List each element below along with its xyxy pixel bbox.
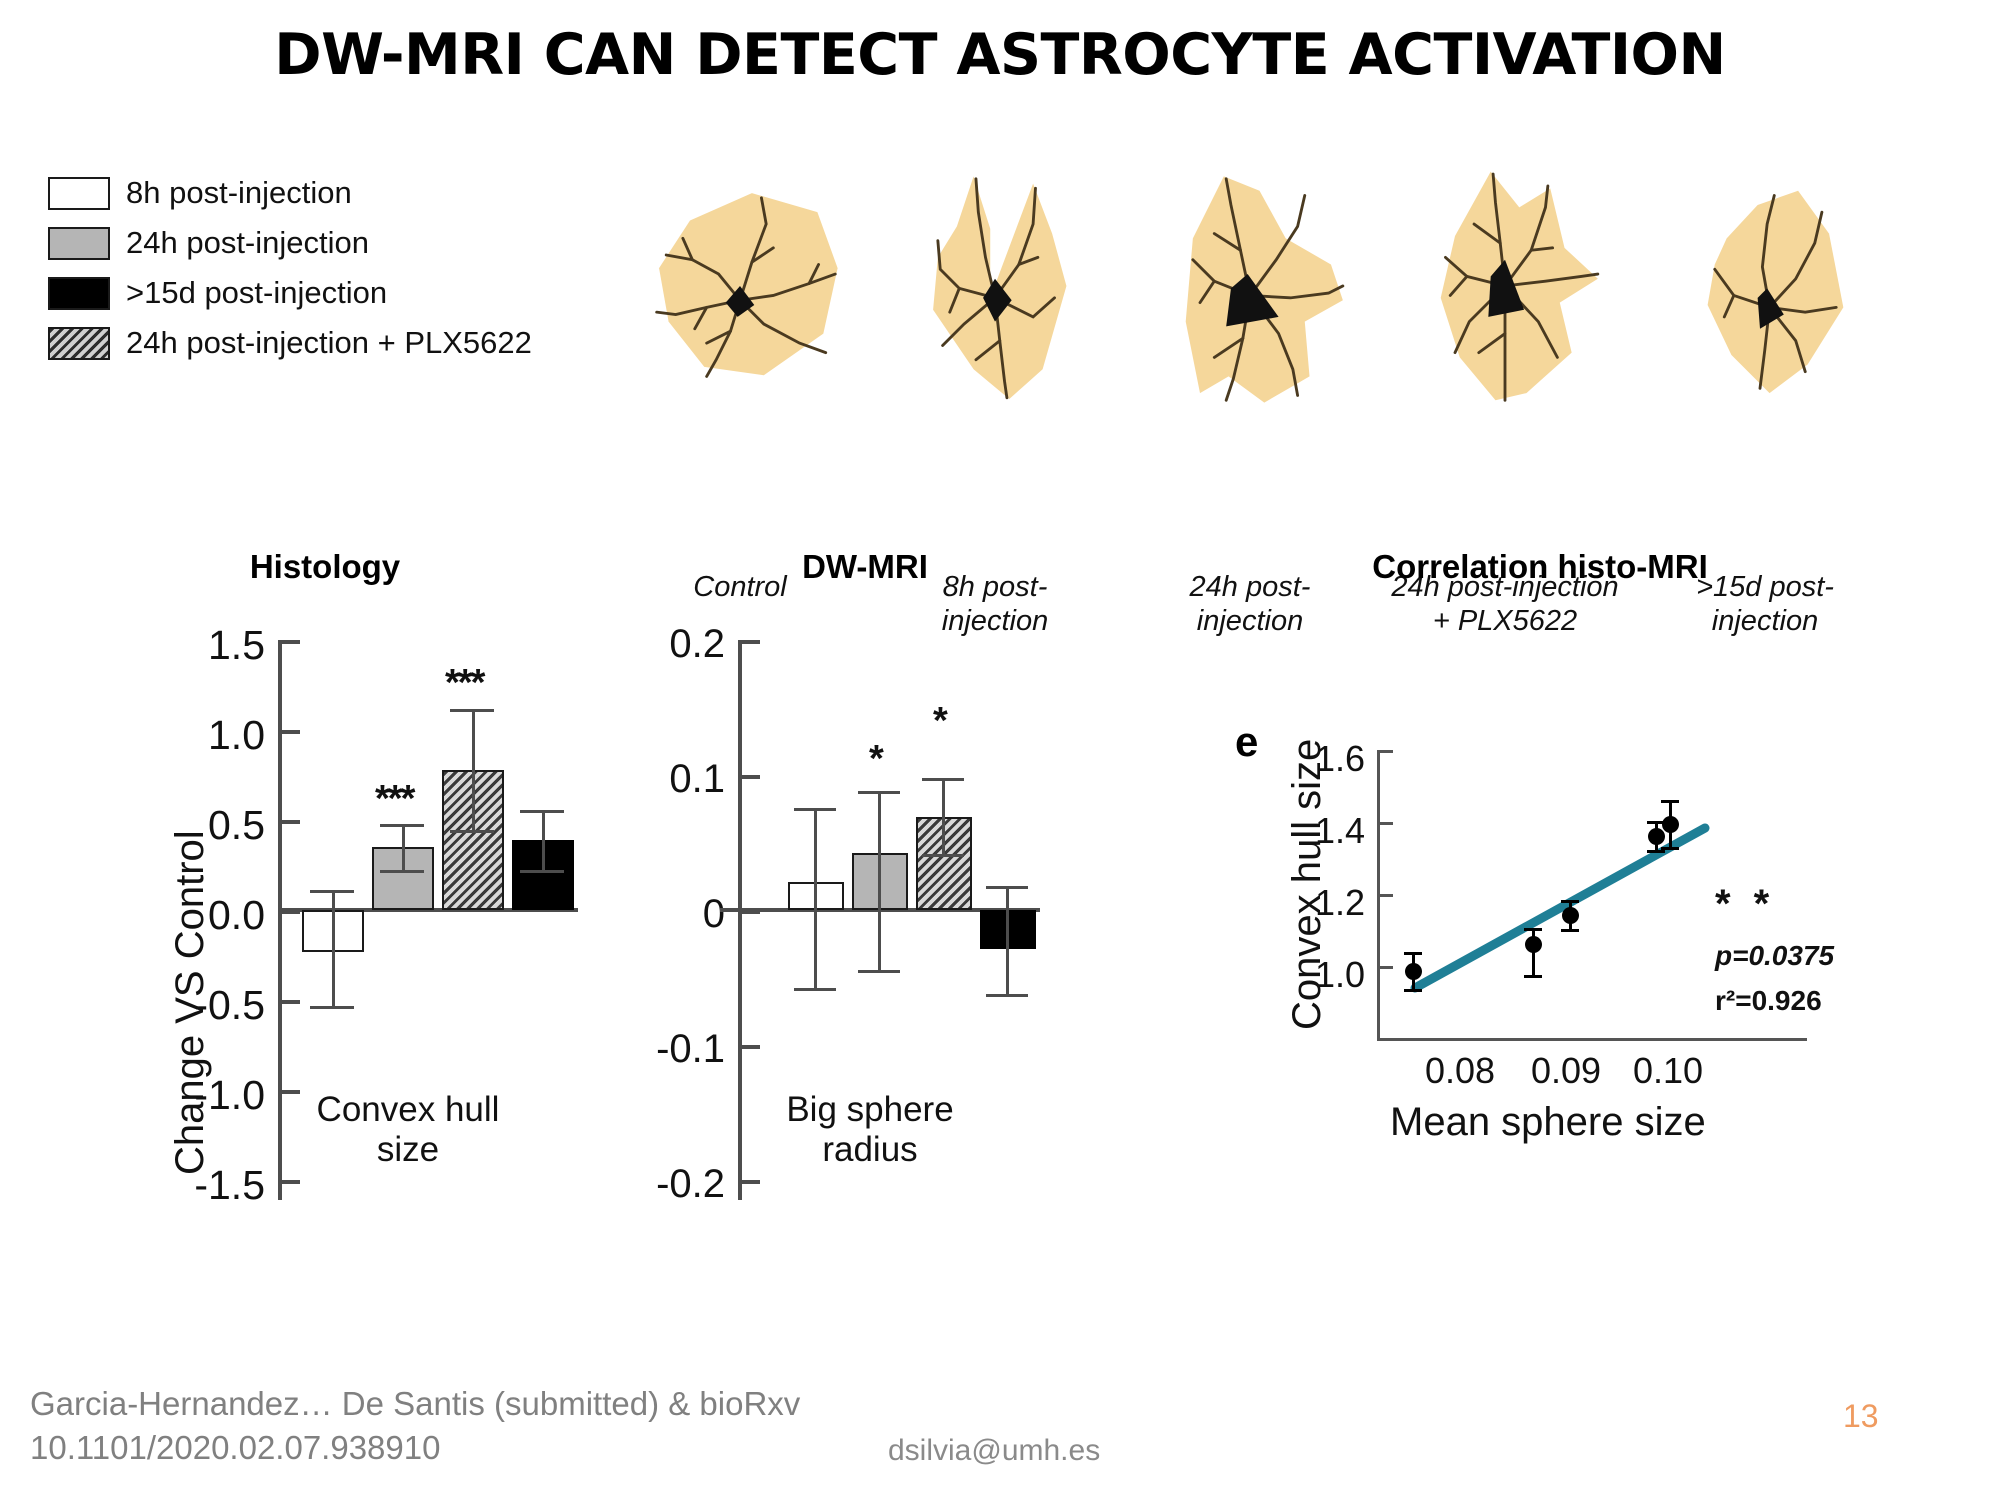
y-tick-label: -0.1 [600,1027,725,1072]
error-bar-cap [520,810,564,813]
page-title: DW-MRI CAN DETECT ASTROCYTE ACTIVATION [0,22,2000,88]
error-bar-cap [310,1006,354,1009]
error-bar-line [1006,886,1009,996]
legend-item: 8h post-injection [48,168,532,218]
error-bar-cap [794,808,836,811]
error-bar-line [472,709,475,831]
y-tick-label: -0.5 [138,982,265,1029]
gray-square-icon [48,227,110,260]
astrocyte-figure-24h [1130,155,1370,405]
x-tick-label: 0.08 [1425,1050,1495,1092]
legend-item-label: 8h post-injection [126,175,352,211]
y-tick-mark [738,1045,760,1049]
y-tick-mark [278,1180,300,1184]
correlation-scatter-plot: e Convex hull size 1.6 1.4 1.2 1.0 [1235,700,1875,1180]
panel-title-correlation: Correlation histo-MRI [1320,548,1760,586]
y-tick-label: 0 [620,892,725,937]
scatter-error-cap [1647,850,1665,853]
black-square-icon [48,277,110,310]
error-bar-cap [986,994,1028,997]
astrocyte-figure-control [620,155,860,405]
histology-x-axis-label: Convex hullsize [258,1090,558,1171]
slide-root: DW-MRI CAN DETECT ASTROCYTE ACTIVATION 8… [0,0,2000,1500]
astrocyte-figure-24h-plx [1385,155,1625,405]
footer-line-1: Garcia-Hernandez… De Santis (submitted) … [30,1382,800,1426]
error-bar-cap [520,870,564,873]
legend-item-label: >15d post-injection [126,275,387,311]
scatter-error-cap [1404,989,1422,992]
error-bar-cap [922,778,964,781]
significance-marker: *** [445,662,483,705]
legend-item: >15d post-injection [48,268,532,318]
dwmri-bar-chart: 0.2 0.1 0 -0.1 -0.2 * * Big sp [620,600,1060,1360]
dwmri-x-axis-label: Big sphereradius [720,1090,1020,1171]
histology-bar-chart: Change VS Control 1.5 1.0 0.5 0.0 -0.5 -… [150,600,590,1360]
y-tick-mark [738,775,760,779]
y-tick-label: 0.5 [160,802,265,849]
error-bar-cap [922,854,964,857]
contact-email: dsilvia@umh.es [888,1434,1100,1468]
error-bar-cap [380,870,424,873]
error-bar-cap [858,970,900,973]
scatter-error-cap [1524,975,1542,978]
footer-citation: Garcia-Hernandez… De Santis (submitted) … [30,1382,800,1469]
x-tick-label: 0.10 [1633,1050,1703,1092]
scatter-x-axis-label: Mean sphere size [1390,1100,1706,1145]
y-tick-label: -0.2 [600,1162,725,1207]
error-bar-cap [450,830,494,833]
error-bar-cap [450,709,494,712]
error-bar-cap [794,988,836,991]
r-squared-text: r²=0.926 [1715,985,1822,1017]
legend-item-label: 24h post-injection + PLX5622 [126,325,532,361]
y-tick-label: 0.2 [620,622,725,667]
scatter-point [1562,907,1579,924]
scatter-error-cap [1561,929,1579,932]
y-tick-mark [278,1000,300,1004]
scatter-point [1662,816,1679,833]
error-bar-line [542,810,545,871]
error-bar-line [332,890,335,1008]
y-tick-mark [278,730,300,734]
error-bar-cap [986,886,1028,889]
error-bar-cap [858,791,900,794]
y-tick-mark [738,640,760,644]
astrocyte-illustration-row: Control 8h post-injection 24h post-injec… [620,155,1920,415]
hatched-square-icon [48,327,110,360]
panel-title-histology: Histology [200,548,450,586]
footer-line-2: 10.1101/2020.02.07.938910 [30,1426,800,1470]
legend-item-label: 24h post-injection [126,225,369,261]
x-tick-label: 0.09 [1531,1050,1601,1092]
astrocyte-figure-15d [1640,155,1880,405]
page-number: 13 [1843,1398,1879,1435]
scatter-error-cap [1661,847,1679,850]
y-tick-label: 0.0 [160,892,265,939]
scatter-error-cap [1661,800,1679,803]
astrocyte-figure-8h [875,155,1115,405]
significance-marker: * * [1715,882,1775,927]
significance-marker: * [933,700,946,743]
y-tick-mark [738,1180,760,1184]
y-tick-label: 1.5 [160,622,265,669]
error-bar-line [814,808,817,990]
significance-marker: * [869,738,882,781]
y-tick-label: 1.0 [160,712,265,759]
white-square-icon [48,177,110,210]
scatter-point [1525,936,1542,953]
error-bar-line [402,824,405,871]
y-tick-label: 0.1 [620,757,725,802]
legend-item: 24h post-injection + PLX5622 [48,318,532,368]
error-bar-cap [380,824,424,827]
legend: 8h post-injection 24h post-injection >15… [48,168,532,368]
p-value-text: p=0.0375 [1715,940,1834,972]
error-bar-line [878,791,881,972]
scatter-point [1405,963,1422,980]
legend-item: 24h post-injection [48,218,532,268]
y-tick-mark [278,640,300,644]
scatter-point [1648,828,1665,845]
panel-title-dwmri: DW-MRI [740,548,990,586]
scatter-error-cap [1524,928,1542,931]
y-tick-label: -1.5 [138,1162,265,1209]
significance-marker: *** [375,778,413,821]
error-bar-cap [310,890,354,893]
scatter-error-cap [1404,952,1422,955]
y-tick-label: -1.0 [138,1072,265,1119]
scatter-error-cap [1561,900,1579,903]
y-tick-mark [278,820,300,824]
error-bar-line [942,778,945,856]
